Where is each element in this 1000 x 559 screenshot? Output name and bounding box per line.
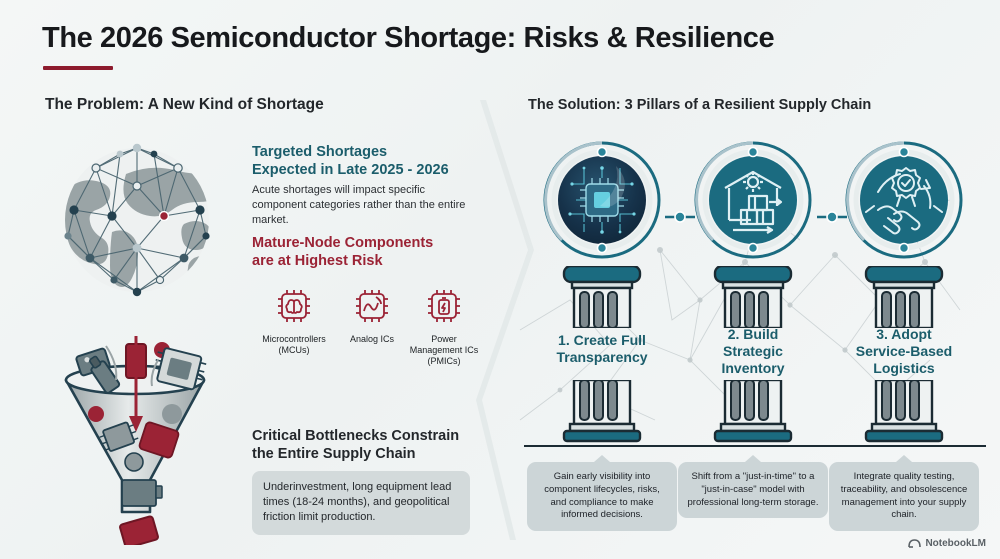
problem-block-mature-node: Mature-Node Components are at Highest Ri…: [252, 235, 480, 270]
component-item-mcu: Microcontrollers (MCUs): [252, 286, 336, 356]
pillar-column-base: [711, 380, 795, 446]
block-heading-line1: Targeted Shortages: [252, 144, 480, 162]
component-label-line2: Management ICs: [402, 345, 486, 356]
block-heading-line2: Expected in Late 2025 - 2026: [252, 162, 480, 180]
pillar-title-3: 3. Adopt Service-Based Logistics: [829, 326, 979, 376]
notebooklm-logo-icon: [908, 538, 921, 549]
problem-block-targeted: Targeted Shortages Expected in Late 2025…: [252, 144, 480, 228]
pillar-caption-3: Integrate quality testing, traceability,…: [829, 462, 979, 531]
pillar-title-line2: Transparency: [527, 349, 677, 366]
pillar-title-line1: 3. Adopt: [829, 326, 979, 343]
brain-chip-icon: [274, 286, 314, 326]
notebooklm-watermark: NotebookLM: [908, 538, 986, 549]
pillar-column-top: [862, 266, 946, 328]
page-title: The 2026 Semiconductor Shortage: Risks &…: [42, 22, 774, 55]
pillar-title-line1: 1. Create Full: [527, 332, 677, 349]
right-column-subtitle: The Solution: 3 Pillars of a Resilient S…: [528, 97, 871, 113]
pillar-title-line3: Inventory: [678, 360, 828, 377]
pillar-1[interactable]: 1. Create Full Transparency Gain early v…: [527, 140, 677, 460]
component-item-pmic: Power Management ICs (PMICs): [402, 286, 486, 366]
pillar-title-line2: Service-Based: [829, 343, 979, 360]
block-heading-line1: Mature-Node Components: [252, 235, 480, 253]
pillar-3[interactable]: 3. Adopt Service-Based Logistics Integra…: [829, 140, 979, 460]
waveform-chip-icon: [352, 286, 392, 326]
component-label-line1: Power: [402, 334, 486, 345]
component-label-line1: Analog ICs: [336, 334, 408, 345]
pillar-caption-2: Shift from a "just-in-time" to a "just-i…: [678, 462, 828, 518]
block-body: Acute shortages will impact specific com…: [252, 183, 480, 227]
pillar-column-base: [862, 380, 946, 446]
watermark-label: NotebookLM: [925, 538, 986, 549]
title-accent-rule: [43, 66, 113, 70]
component-item-analog: Analog ICs: [336, 286, 408, 345]
handshake-quality-medallion-icon: [844, 140, 964, 260]
pillar-title-line2: Strategic: [678, 343, 828, 360]
pillar-title-2: 2. Build Strategic Inventory: [678, 326, 828, 376]
block-heading-line1: Critical Bottlenecks Constrain: [252, 428, 484, 446]
problem-block-bottlenecks: Critical Bottlenecks Constrain the Entir…: [252, 428, 484, 535]
pillar-2[interactable]: 2. Build Strategic Inventory Shift from …: [678, 140, 828, 460]
supply-funnel: [30, 330, 240, 545]
component-label-line1: Microcontrollers: [252, 334, 336, 345]
pillar-column-base: [560, 380, 644, 446]
infographic-canvas: The 2026 Semiconductor Shortage: Risks &…: [0, 0, 1000, 559]
bottleneck-note-box: Underinvestment, long equipment lead tim…: [252, 471, 470, 535]
pillar-column-top: [560, 266, 644, 328]
component-label-line3: (PMICs): [402, 356, 486, 367]
block-heading-line2: are at Highest Risk: [252, 253, 480, 271]
pillar-column-top: [711, 266, 795, 328]
pillar-title-1: 1. Create Full Transparency: [527, 332, 677, 366]
battery-chip-icon: [424, 286, 464, 326]
pillar-title-line1: 2. Build: [678, 326, 828, 343]
block-heading-line2: the Entire Supply Chain: [252, 446, 484, 464]
global-network-globe: [34, 128, 244, 313]
left-column-subtitle: The Problem: A New Kind of Shortage: [45, 96, 324, 114]
circuit-chip-medallion-icon: [542, 140, 662, 260]
pillar-title-line3: Logistics: [829, 360, 979, 377]
pillar-ground-line: [520, 443, 990, 449]
warehouse-medallion-icon: [693, 140, 813, 260]
component-label-line2: (MCUs): [252, 345, 336, 356]
pillar-caption-1: Gain early visibility into component lif…: [527, 462, 677, 531]
